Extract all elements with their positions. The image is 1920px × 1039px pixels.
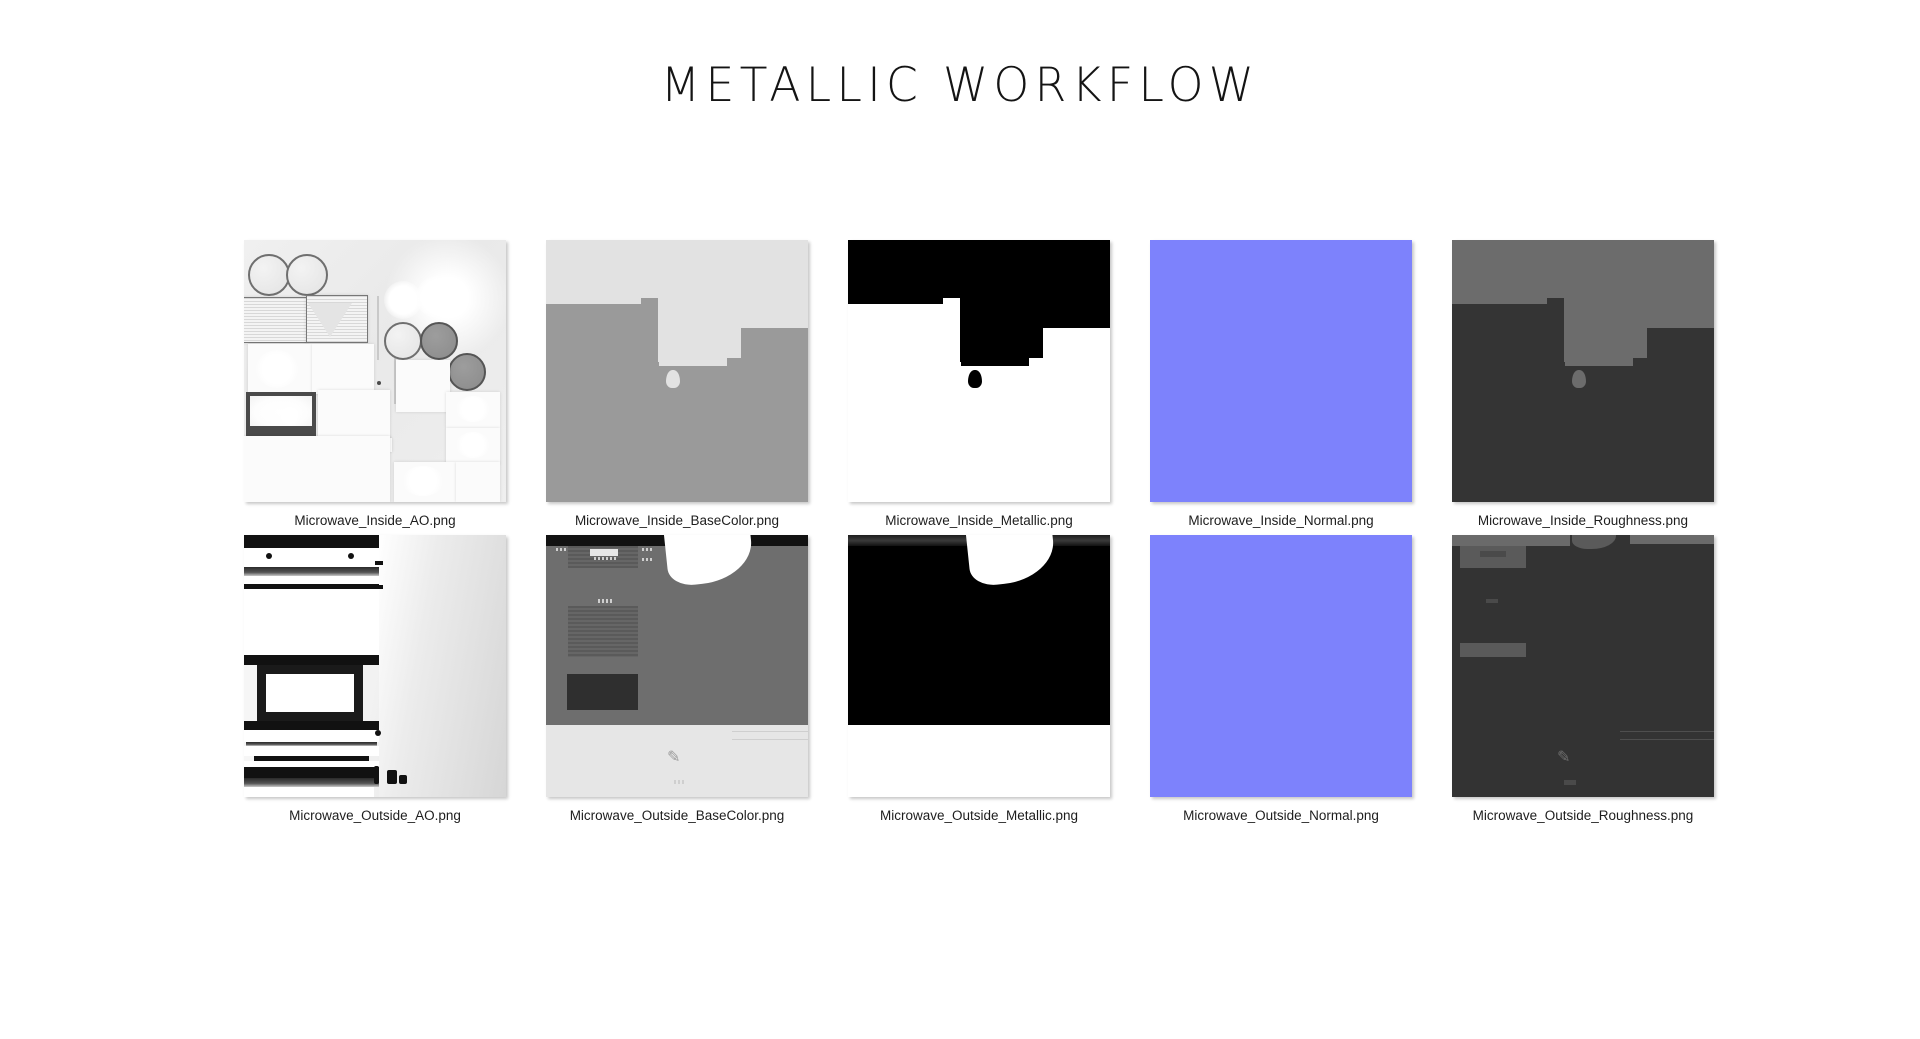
thumbnail-wrap[interactable]	[1452, 240, 1714, 502]
thumbnail-wrap[interactable]: ✎	[1452, 535, 1714, 797]
thumbnail-wrap[interactable]	[848, 240, 1110, 502]
texture-card-outside-metallic[interactable]: Microwave_Outside_Metallic.png	[848, 535, 1110, 823]
texture-card-outside-ao[interactable]: Microwave_Outside_AO.png	[244, 535, 506, 823]
texture-caption: Microwave_Outside_AO.png	[244, 808, 506, 823]
texture-caption: Microwave_Inside_Normal.png	[1150, 513, 1412, 528]
texture-card-inside-metallic[interactable]: Microwave_Inside_Metallic.png	[848, 240, 1110, 528]
thumbnail-image-inside-metallic[interactable]	[848, 240, 1110, 502]
texture-card-outside-roughness[interactable]: ✎ Microwave_Outside_Roughness.png	[1452, 535, 1714, 823]
thumbnail-image-inside-normal[interactable]	[1150, 240, 1412, 502]
thumbnail-image-outside-roughness[interactable]: ✎	[1452, 535, 1714, 797]
texture-grid: Microwave_Inside_AO.png Mi	[244, 240, 1714, 830]
texture-caption: Microwave_Outside_Roughness.png	[1452, 808, 1714, 823]
thumbnail-image-inside-roughness[interactable]	[1452, 240, 1714, 502]
texture-card-inside-ao[interactable]: Microwave_Inside_AO.png	[244, 240, 506, 528]
texture-row-inside: Microwave_Inside_AO.png Mi	[244, 240, 1714, 535]
texture-card-inside-basecolor[interactable]: Microwave_Inside_BaseColor.png	[546, 240, 808, 528]
thumbnail-wrap[interactable]	[1150, 535, 1412, 797]
texture-caption: Microwave_Inside_Metallic.png	[848, 513, 1110, 528]
texture-caption: Microwave_Outside_Normal.png	[1150, 808, 1412, 823]
texture-caption: Microwave_Outside_Metallic.png	[848, 808, 1110, 823]
thumbnail-image-outside-normal[interactable]	[1150, 535, 1412, 797]
texture-card-outside-basecolor[interactable]: ✎ Microwave_Outside_BaseColor.png	[546, 535, 808, 823]
thumbnail-wrap[interactable]: ✎	[546, 535, 808, 797]
texture-card-outside-normal[interactable]: Microwave_Outside_Normal.png	[1150, 535, 1412, 823]
texture-caption: Microwave_Inside_AO.png	[244, 513, 506, 528]
thumbnail-wrap[interactable]	[546, 240, 808, 502]
thumbnail-wrap[interactable]	[244, 240, 506, 502]
texture-card-inside-normal[interactable]: Microwave_Inside_Normal.png	[1150, 240, 1412, 528]
thumbnail-image-inside-ao[interactable]	[244, 240, 506, 502]
texture-sheet-page: METALLIC WORKFLOW	[0, 0, 1920, 1039]
thumbnail-image-inside-basecolor[interactable]	[546, 240, 808, 502]
texture-caption: Microwave_Outside_BaseColor.png	[546, 808, 808, 823]
texture-caption: Microwave_Inside_BaseColor.png	[546, 513, 808, 528]
texture-caption: Microwave_Inside_Roughness.png	[1452, 513, 1714, 528]
thumbnail-wrap[interactable]	[1150, 240, 1412, 502]
thumbnail-image-outside-basecolor[interactable]: ✎	[546, 535, 808, 797]
thumbnail-image-outside-metallic[interactable]	[848, 535, 1110, 797]
texture-card-inside-roughness[interactable]: Microwave_Inside_Roughness.png	[1452, 240, 1714, 528]
thumbnail-image-outside-ao[interactable]	[244, 535, 506, 797]
thumbnail-wrap[interactable]	[244, 535, 506, 797]
texture-row-outside: Microwave_Outside_AO.png	[244, 535, 1714, 830]
thumbnail-wrap[interactable]	[848, 535, 1110, 797]
page-title: METALLIC WORKFLOW	[29, 58, 1891, 113]
